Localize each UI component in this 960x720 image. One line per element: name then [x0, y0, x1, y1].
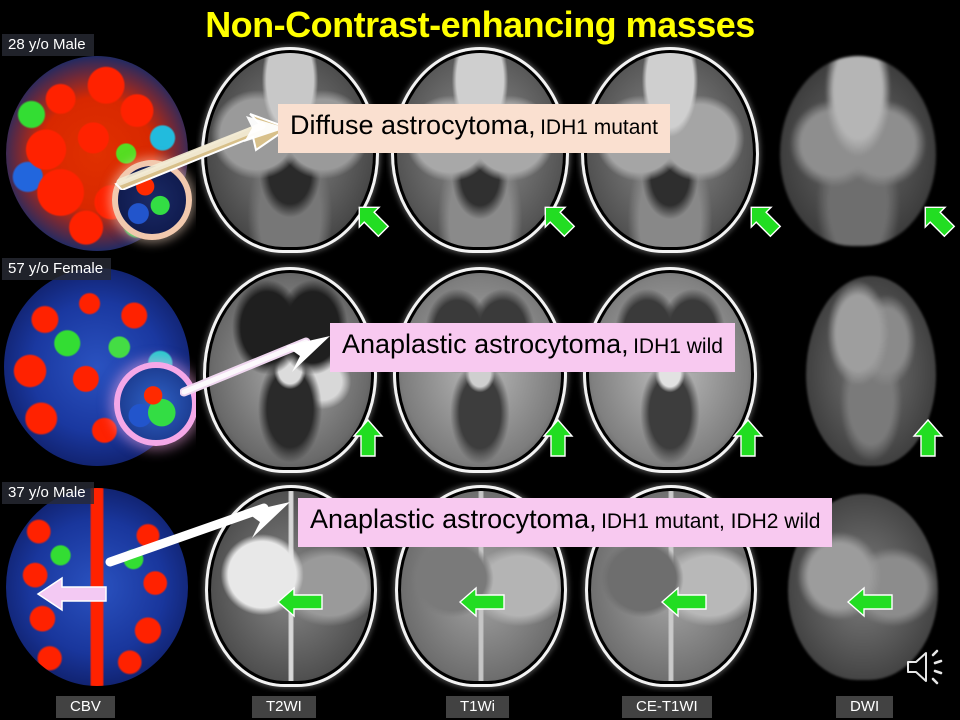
speaker-icon[interactable] — [904, 648, 950, 686]
molecular-text-row1: IDH1 mutant — [540, 116, 658, 139]
diagnosis-callout-row3: Anaplastic astrocytoma, IDH1 mutant, IDH… — [298, 498, 832, 547]
patient-tag-row2: 57 y/o Female — [2, 258, 111, 280]
lesion-arrow-r2c4 — [728, 418, 768, 458]
cbv-lesion-arrow-row3 — [36, 574, 108, 614]
sequence-tag-t2wi: T2WI — [252, 696, 316, 718]
lesion-arrow-r3c5 — [846, 584, 894, 620]
presentation-slide: Non-Contrast-enhancing masses 28 y/o Mal… — [0, 0, 960, 720]
molecular-text-row3: IDH1 mutant, IDH2 wild — [601, 510, 820, 533]
callout-pointer-row1 — [110, 110, 290, 190]
sequence-tag-t1wi: T1Wi — [446, 696, 509, 718]
slide-title: Non-Contrast-enhancing masses — [0, 4, 960, 46]
sequence-tag-cet1wi: CE-T1WI — [622, 696, 712, 718]
diagnosis-text-row2: Anaplastic astrocytoma, — [342, 329, 629, 359]
diagnosis-callout-row1: Diffuse astrocytoma, IDH1 mutant — [278, 104, 670, 153]
lesion-arrow-r3c3 — [458, 584, 506, 620]
patient-tag-row3: 37 y/o Male — [2, 482, 94, 504]
diagnosis-text-row1: Diffuse astrocytoma, — [290, 110, 536, 140]
lesion-arrow-r2c2 — [348, 418, 388, 458]
lesion-arrow-r3c4 — [660, 584, 708, 620]
callout-pointer-row3 — [104, 500, 294, 570]
diagnosis-text-row3: Anaplastic astrocytoma, — [310, 504, 597, 534]
lesion-arrow-r2c5 — [908, 418, 948, 458]
sequence-tag-cbv: CBV — [56, 696, 115, 718]
diagnosis-callout-row2: Anaplastic astrocytoma, IDH1 wild — [330, 323, 735, 372]
sequence-tag-dwi: DWI — [836, 696, 893, 718]
lesion-arrow-r3c2 — [276, 584, 324, 620]
image-panel-r2c1-cbv — [0, 262, 196, 474]
lesion-arrow-r2c3 — [538, 418, 578, 458]
callout-pointer-row2 — [180, 330, 340, 400]
molecular-text-row2: IDH1 wild — [633, 335, 723, 358]
